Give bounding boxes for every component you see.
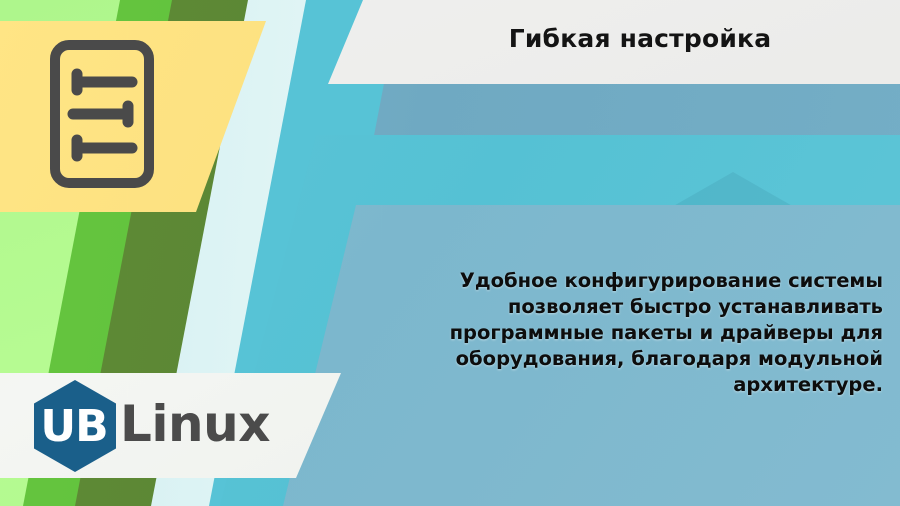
brand-logo: UB Linux [31, 379, 270, 473]
logo-mark-text: UB [31, 379, 119, 473]
logo-wordmark: Linux [120, 399, 270, 449]
page-title: Гибкая настройка [410, 24, 870, 53]
body-paragraph: Удобное конфигурирование системы позволя… [420, 268, 883, 398]
hexagon-icon: UB [31, 379, 119, 473]
settings-sliders-icon [48, 38, 156, 190]
slide-canvas: UB Гибкая настройка Удобное конфигуриров… [0, 0, 900, 506]
